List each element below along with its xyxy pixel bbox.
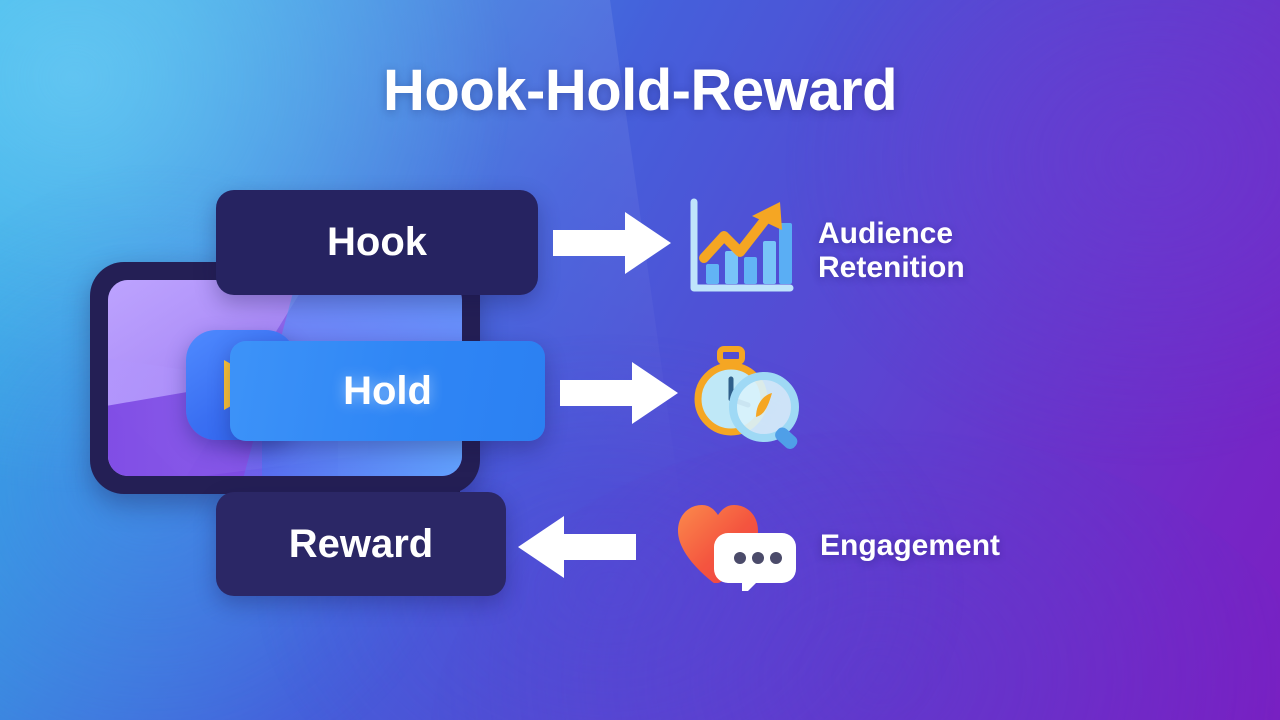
arrow-right-icon-hold	[560, 362, 678, 424]
outcome-label-line1: Audience	[818, 217, 965, 251]
outcome-row-audience-retention: Audience Retenition	[684, 196, 965, 305]
growth-chart-icon	[684, 196, 796, 305]
step-label-hold: Hold	[343, 369, 432, 414]
outcome-label-audience-retention: Audience Retenition	[818, 217, 965, 284]
arrow-right-icon-hook	[553, 212, 671, 274]
infographic-canvas: Hook-Hold-Reward Hook Hold Reward	[0, 0, 1280, 720]
heart-comment-icon	[672, 495, 802, 596]
outcome-label-line1: Engagement	[820, 529, 1000, 563]
stopwatch-magnifier-icon	[686, 345, 810, 454]
outcome-label-line2: Retenition	[818, 251, 965, 285]
step-card-hold[interactable]: Hold	[230, 341, 545, 441]
outcome-row-hold	[686, 345, 810, 454]
step-card-reward[interactable]: Reward	[216, 492, 506, 596]
step-label-hook: Hook	[327, 220, 427, 265]
outcome-row-engagement: Engagement	[672, 495, 1000, 596]
page-title: Hook-Hold-Reward	[0, 57, 1280, 124]
step-card-hook[interactable]: Hook	[216, 190, 538, 295]
outcome-label-engagement: Engagement	[820, 529, 1000, 563]
arrow-left-icon-reward	[518, 516, 636, 578]
step-label-reward: Reward	[289, 522, 434, 567]
